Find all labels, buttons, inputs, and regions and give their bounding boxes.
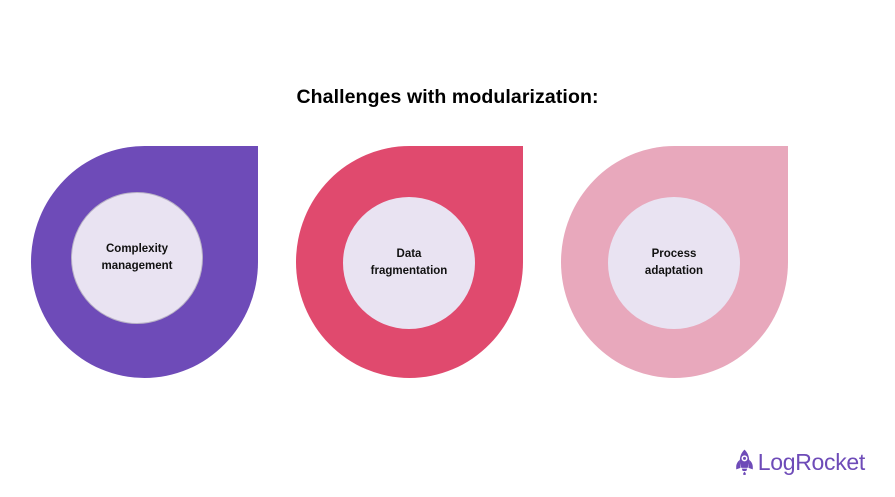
logrocket-brand: LogRocket xyxy=(734,449,865,475)
slide-canvas: Challenges with modularization: Complexi… xyxy=(0,0,895,497)
teardrop-shape-process-adaptation[interactable]: Process adaptation xyxy=(561,146,788,378)
inner-circle-data-fragmentation: Data fragmentation xyxy=(343,197,475,329)
teardrop-label: Process adaptation xyxy=(639,246,709,280)
teardrop-shape-data-fragmentation[interactable]: Data fragmentation xyxy=(296,146,523,378)
page-title: Challenges with modularization: xyxy=(0,84,895,110)
inner-circle-process-adaptation: Process adaptation xyxy=(608,197,740,329)
teardrop-shape-complexity-management[interactable]: Complexity management xyxy=(31,146,258,378)
inner-circle-complexity-management: Complexity management xyxy=(71,192,203,324)
teardrop-label: Data fragmentation xyxy=(365,246,454,280)
logrocket-wordmark: LogRocket xyxy=(758,449,865,475)
teardrop-shape-row: Complexity management Data fragmentation… xyxy=(0,146,895,382)
rocket-icon xyxy=(734,449,755,475)
teardrop-label: Complexity management xyxy=(96,241,179,275)
